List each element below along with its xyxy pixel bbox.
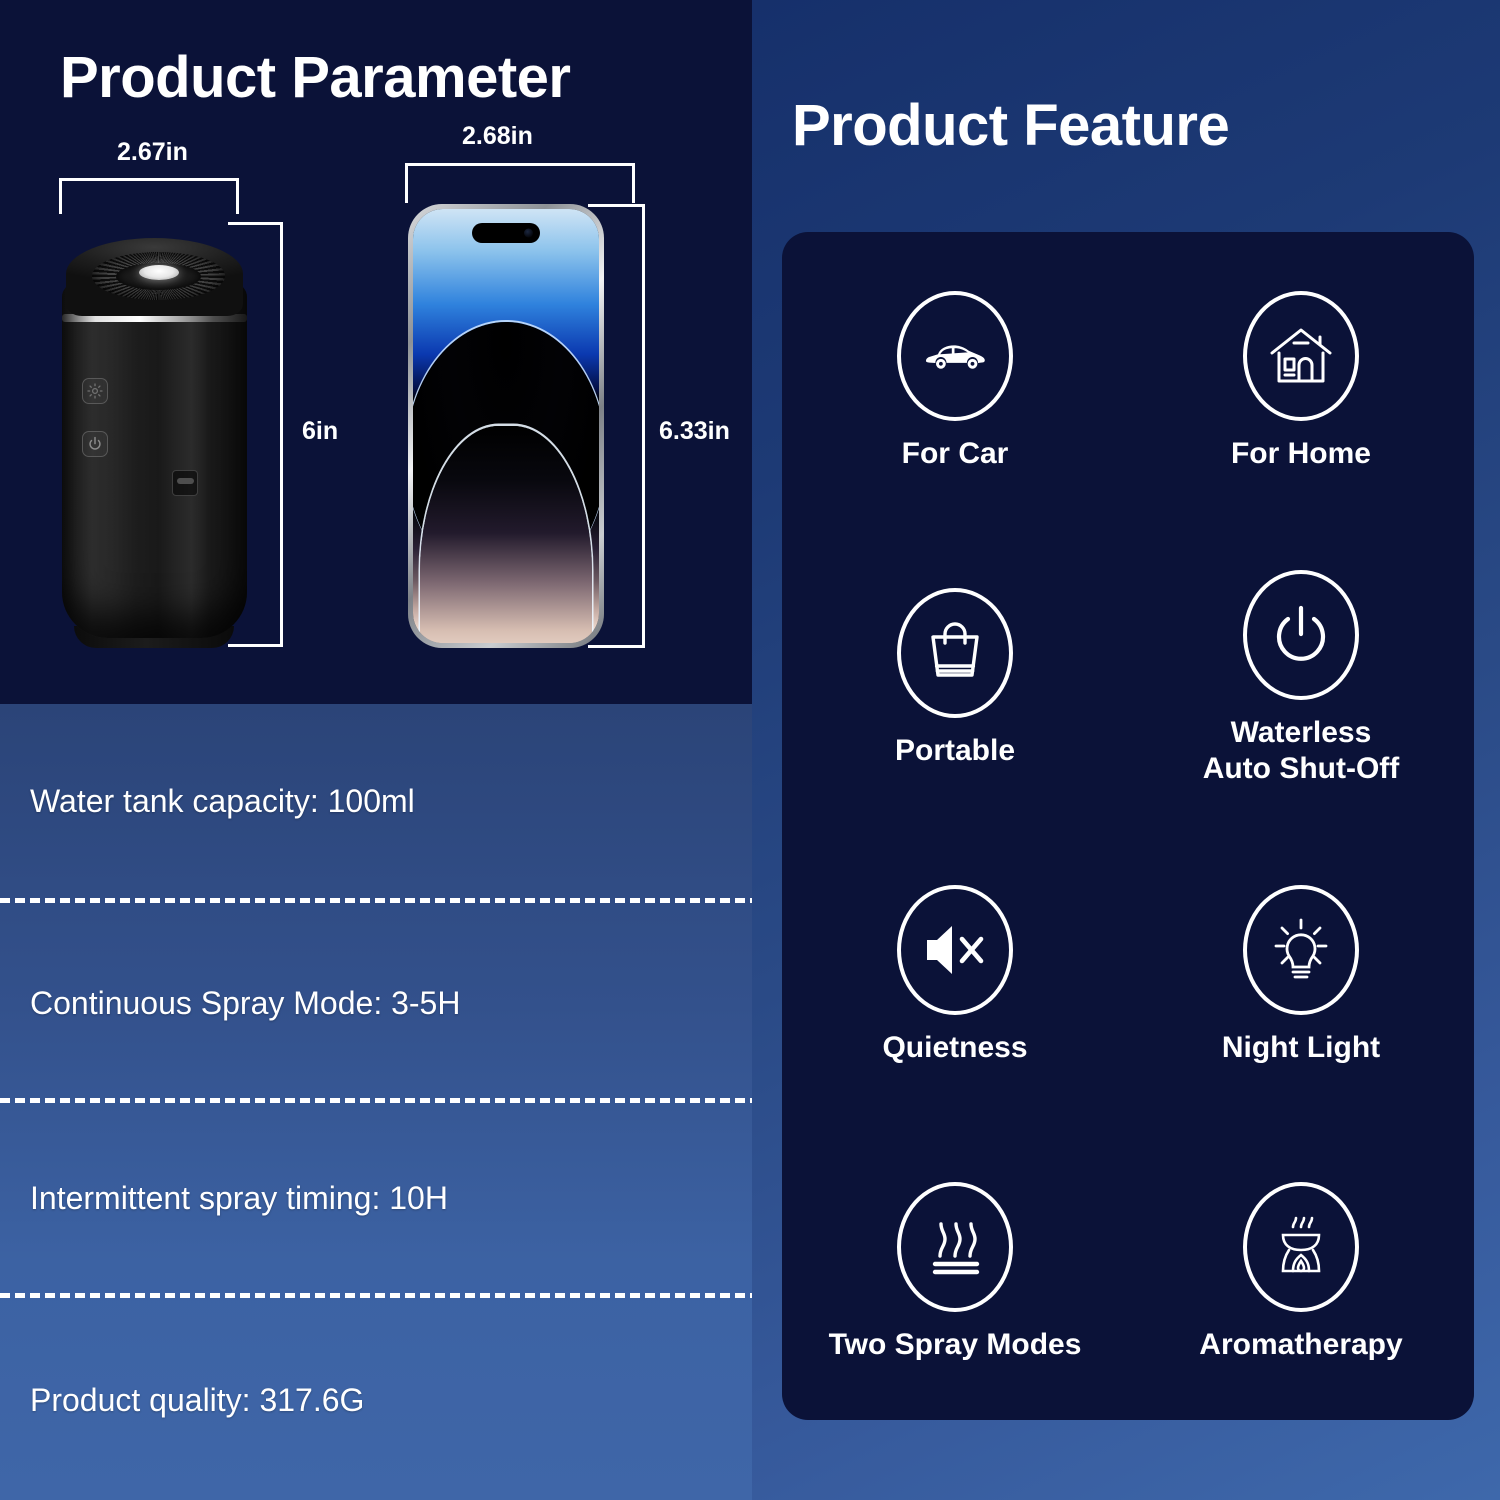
feature-item-for-home: For Home (1128, 232, 1474, 529)
feature-icon-wrapper (896, 290, 1014, 422)
iphone-reference-image (408, 204, 604, 648)
feature-label: For Car (902, 436, 1009, 471)
power-icon (1243, 570, 1359, 700)
steam-waves-icon (897, 1182, 1013, 1312)
shopping-bag-icon (897, 588, 1013, 718)
light-mode-button-icon (82, 378, 108, 404)
feature-label: Night Light (1222, 1030, 1380, 1065)
phone-frame (408, 204, 604, 648)
spec-divider-2 (0, 1293, 760, 1298)
page-title-product-parameter: Product Parameter (60, 44, 570, 111)
feature-icon-wrapper (1242, 1181, 1360, 1313)
product-feature-panel: Product Feature (752, 0, 1500, 1500)
house-icon (1243, 291, 1359, 421)
device-body (62, 283, 247, 638)
device-width-label: 2.67in (117, 138, 188, 167)
feature-label: Quietness (882, 1030, 1027, 1065)
feature-label: Aromatherapy (1199, 1327, 1402, 1362)
feature-icon-wrapper (1242, 569, 1360, 701)
feature-label: Waterless Auto Shut-Off (1203, 715, 1400, 786)
feature-icon-wrapper (1242, 290, 1360, 422)
phone-width-label: 2.68in (462, 122, 533, 151)
feature-item-portable: Portable (782, 529, 1128, 826)
humidifier-product-image (62, 228, 247, 648)
spec-item-1: Continuous Spray Mode: 3-5H (30, 985, 460, 1022)
infographic-page: Product Parameter 2.67in 2.68in 6in 6.33… (0, 0, 1500, 1500)
feature-item-night-light: Night Light (1128, 826, 1474, 1123)
dynamic-island (472, 223, 540, 243)
feature-item-aromatherapy: Aromatherapy (1128, 1123, 1474, 1420)
spec-divider-0 (0, 898, 760, 903)
feature-icon-wrapper (896, 884, 1014, 1016)
spec-item-0: Water tank capacity: 100ml (30, 783, 415, 820)
phone-screen (413, 209, 599, 643)
feature-grid: For Car (782, 232, 1474, 1420)
page-title-product-feature: Product Feature (792, 92, 1229, 159)
spec-item-3: Product quality: 317.6G (30, 1382, 364, 1419)
device-width-bracket (59, 178, 239, 214)
feature-item-waterless-auto-shut-off: Waterless Auto Shut-Off (1128, 529, 1474, 826)
usb-c-port-icon (172, 470, 198, 496)
power-button-icon (82, 431, 108, 457)
spec-item-2: Intermittent spray timing: 10H (30, 1180, 448, 1217)
phone-width-bracket (405, 163, 635, 203)
car-icon (897, 291, 1013, 421)
feature-label: Two Spray Modes (829, 1327, 1082, 1362)
feature-icon-wrapper (1242, 884, 1360, 1016)
product-parameter-panel: Product Parameter 2.67in 2.68in 6in 6.33… (0, 0, 752, 1500)
device-height-label: 6in (302, 417, 338, 446)
feature-item-for-car: For Car (782, 232, 1128, 529)
feature-icon-wrapper (896, 1181, 1014, 1313)
feature-item-two-spray-modes: Two Spray Modes (782, 1123, 1128, 1420)
mute-speaker-icon (897, 885, 1013, 1015)
device-mist-nozzle (139, 265, 179, 280)
feature-card: For Car (782, 232, 1474, 1420)
oil-burner-icon (1243, 1182, 1359, 1312)
feature-item-quietness: Quietness (782, 826, 1128, 1123)
light-bulb-icon (1243, 885, 1359, 1015)
device-top-cap (66, 238, 243, 316)
feature-icon-wrapper (896, 587, 1014, 719)
phone-height-label: 6.33in (659, 417, 730, 446)
spec-divider-1 (0, 1098, 760, 1103)
feature-label: Portable (895, 733, 1015, 768)
feature-label: For Home (1231, 436, 1371, 471)
